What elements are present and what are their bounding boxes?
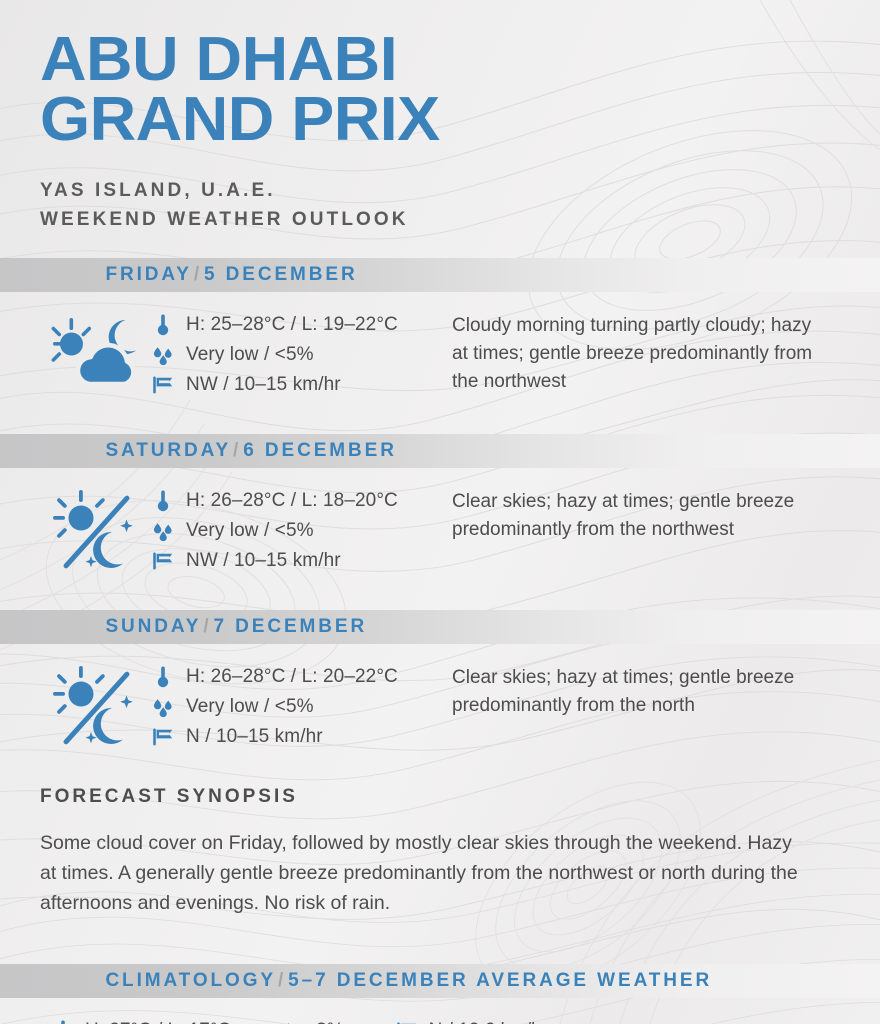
wind-flag-icon xyxy=(152,551,174,571)
synopsis-heading: FORECAST SYNOPSIS xyxy=(40,786,840,808)
day-row: H: 25–28°C / L: 19–22°C Very low / <5% xyxy=(40,292,840,404)
thermometer-icon xyxy=(152,666,174,688)
climatology-label: CLIMATOLOGY xyxy=(105,970,276,991)
day-name-label: SATURDAY xyxy=(105,440,231,461)
day-section-friday: FRIDAY/5 DECEMBER xyxy=(40,258,840,404)
thermometer-icon xyxy=(152,490,174,512)
climatology-temperature-value: H: 27°C / L: 17°C xyxy=(85,1020,231,1024)
temperature-value: H: 25–28°C / L: 19–22°C xyxy=(186,314,398,336)
precipitation-value: Very low / <5% xyxy=(186,344,314,366)
climatology-precipitation: 3% xyxy=(283,1020,343,1024)
stat-wind: N / 10–15 km/hr xyxy=(152,722,452,752)
stats-column: H: 25–28°C / L: 19–22°C Very low / <5% xyxy=(152,308,452,400)
title-block: ABU DHABI GRAND PRIX YAS ISLAND, U.A.E. … xyxy=(40,0,840,234)
location-label: YAS ISLAND, U.A.E. xyxy=(40,177,840,206)
forecast-synopsis-section: FORECAST SYNOPSIS Some cloud cover on Fr… xyxy=(40,756,840,919)
droplets-icon xyxy=(152,521,174,541)
day-name-label: FRIDAY xyxy=(105,264,191,285)
header-separator: / xyxy=(231,440,243,461)
day-row: H: 26–28°C / L: 20–22°C Very low / <5% xyxy=(40,644,840,756)
day-header-bar-saturday: SATURDAY/6 DECEMBER xyxy=(0,434,880,468)
header-separator: / xyxy=(201,616,213,637)
weather-icon-cell xyxy=(40,660,152,750)
subtitle-block: YAS ISLAND, U.A.E. WEEKEND WEATHER OUTLO… xyxy=(40,177,840,234)
stat-temperature: H: 25–28°C / L: 19–22°C xyxy=(152,310,452,340)
day-date-label: 7 DECEMBER xyxy=(214,616,368,637)
day-header-bar-sunday: SUNDAY/7 DECEMBER xyxy=(0,610,880,644)
day-header-text: SATURDAY/6 DECEMBER xyxy=(40,418,397,484)
day-description: Clear skies; hazy at times; gentle breez… xyxy=(452,484,840,544)
header-separator: / xyxy=(192,264,204,285)
header-separator: / xyxy=(276,970,288,991)
day-row: H: 26–28°C / L: 18–20°C Very low / <5% xyxy=(40,468,840,580)
infographic-page: ABU DHABI GRAND PRIX YAS ISLAND, U.A.E. … xyxy=(0,0,880,1024)
wind-flag-icon xyxy=(152,375,174,395)
tagline-label: WEEKEND WEATHER OUTLOOK xyxy=(40,206,840,235)
stat-wind: NW / 10–15 km/hr xyxy=(152,546,452,576)
day-date-label: 6 DECEMBER xyxy=(243,440,397,461)
thermometer-icon xyxy=(52,1020,74,1024)
precipitation-value: Very low / <5% xyxy=(186,696,314,718)
day-description: Clear skies; hazy at times; gentle breez… xyxy=(452,660,840,720)
precipitation-value: Very low / <5% xyxy=(186,520,314,542)
climatology-header-bar: CLIMATOLOGY/5–7 DECEMBER AVERAGE WEATHER xyxy=(0,964,880,998)
climatology-precipitation-value: 3% xyxy=(316,1020,343,1024)
climatology-section: CLIMATOLOGY/5–7 DECEMBER AVERAGE WEATHER… xyxy=(40,964,840,1024)
droplets-icon xyxy=(152,697,174,717)
stat-temperature: H: 26–28°C / L: 18–20°C xyxy=(152,486,452,516)
day-date-label: 5 DECEMBER xyxy=(204,264,358,285)
climatology-temperature: H: 27°C / L: 17°C xyxy=(52,1020,231,1024)
stat-precipitation: Very low / <5% xyxy=(152,516,452,546)
day-section-saturday: SATURDAY/6 DECEMBER xyxy=(40,434,840,580)
day-header-text: SUNDAY/7 DECEMBER xyxy=(40,594,367,660)
climatology-wind-value: N / 12.6 km/hr xyxy=(429,1020,548,1024)
wind-value: N / 10–15 km/hr xyxy=(186,726,323,748)
day-description: Cloudy morning turning partly cloudy; ha… xyxy=(452,308,840,396)
sun-moon-cloud-icon xyxy=(48,312,144,392)
droplets-icon xyxy=(152,345,174,365)
temperature-value: H: 26–28°C / L: 18–20°C xyxy=(186,490,398,512)
wind-value: NW / 10–15 km/hr xyxy=(186,374,341,396)
day-section-sunday: SUNDAY/7 DECEMBER xyxy=(40,610,840,756)
weather-icon-cell xyxy=(40,308,152,392)
stat-temperature: H: 26–28°C / L: 20–22°C xyxy=(152,662,452,692)
sun-moon-clear-icon xyxy=(50,488,142,574)
stat-wind: NW / 10–15 km/hr xyxy=(152,370,452,400)
wind-value: NW / 10–15 km/hr xyxy=(186,550,341,572)
sun-moon-clear-icon xyxy=(50,664,142,750)
climatology-header-text: CLIMATOLOGY/5–7 DECEMBER AVERAGE WEATHER xyxy=(40,948,712,1014)
climatology-wind: N / 12.6 km/hr xyxy=(396,1020,548,1024)
page-title: ABU DHABI GRAND PRIX xyxy=(40,30,872,149)
climatology-range: 5–7 DECEMBER AVERAGE WEATHER xyxy=(288,970,712,991)
thermometer-icon xyxy=(152,314,174,336)
day-header-text: FRIDAY/5 DECEMBER xyxy=(40,242,358,308)
synopsis-body: Some cloud cover on Friday, followed by … xyxy=(40,828,800,919)
day-header-bar-friday: FRIDAY/5 DECEMBER xyxy=(0,258,880,292)
day-name-label: SUNDAY xyxy=(105,616,201,637)
stats-column: H: 26–28°C / L: 18–20°C Very low / <5% xyxy=(152,484,452,576)
stat-precipitation: Very low / <5% xyxy=(152,340,452,370)
wind-flag-icon xyxy=(152,727,174,747)
stat-precipitation: Very low / <5% xyxy=(152,692,452,722)
stats-column: H: 26–28°C / L: 20–22°C Very low / <5% xyxy=(152,660,452,752)
weather-icon-cell xyxy=(40,484,152,574)
temperature-value: H: 26–28°C / L: 20–22°C xyxy=(186,666,398,688)
